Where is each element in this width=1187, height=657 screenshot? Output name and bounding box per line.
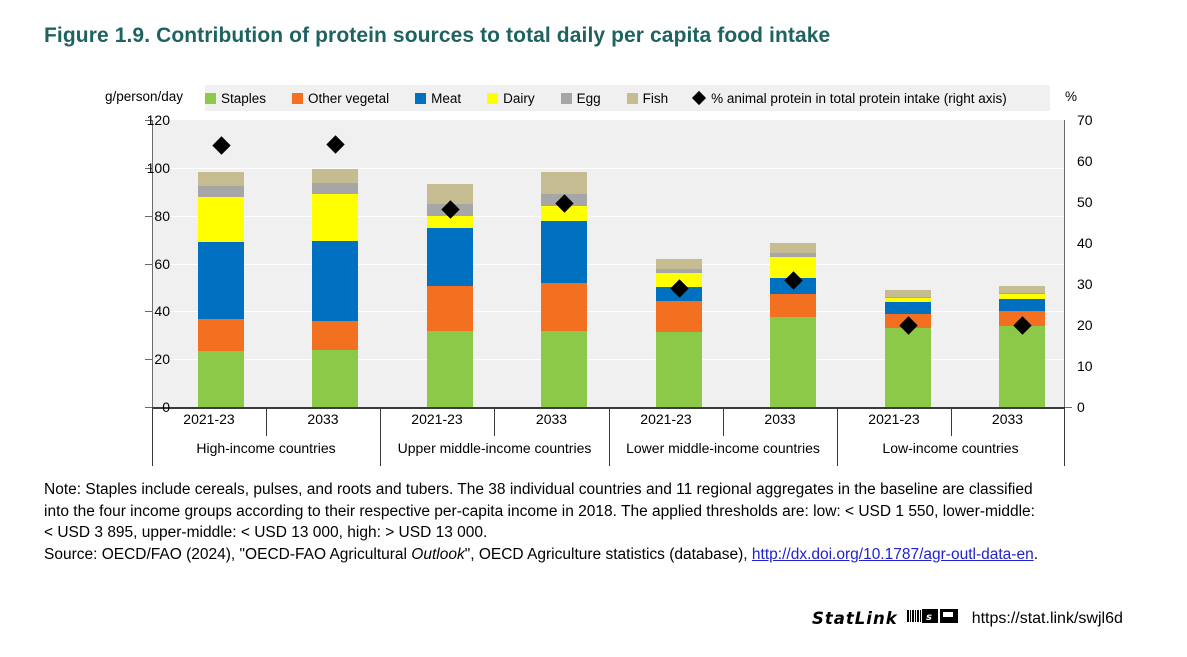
- category-label-low-income-2021-23: 2021-23: [837, 411, 951, 427]
- statlink-url[interactable]: https://stat.link/swjl6d: [972, 610, 1123, 628]
- legend-item-fish[interactable]: Fish: [627, 91, 669, 106]
- legend-item-animal-protein-share[interactable]: % animal protein in total protein intake…: [694, 91, 1007, 106]
- bar-segment-other-vegetal: [656, 301, 702, 332]
- group-label-lower-middle-income: Lower middle-income countries: [609, 440, 837, 456]
- category-label-upper-middle-income-2021-23: 2021-23: [380, 411, 494, 427]
- bar-segment-staples: [999, 326, 1045, 407]
- right-axis-line: [1064, 120, 1065, 408]
- right-axis-tick-label: 0: [1077, 400, 1117, 414]
- figure-container: Figure 1.9. Contribution of protein sour…: [0, 0, 1187, 657]
- marker-high-income-2033: [326, 136, 344, 154]
- left-axis-tick-label: 20: [124, 352, 170, 366]
- legend-label-animal-protein-share: % animal protein in total protein intake…: [711, 91, 1007, 106]
- plot-area: [152, 120, 1064, 407]
- category-label-high-income-2033: 2033: [266, 411, 380, 427]
- left-axis-tick-label: 120: [124, 113, 170, 127]
- category-label-low-income-2033: 2033: [951, 411, 1064, 427]
- category-axis: 2021-23 2033 2021-23 2033 2021-23 2033 2…: [152, 408, 1065, 467]
- bar-segment-fish: [541, 172, 587, 194]
- bar-segment-fish: [770, 243, 816, 253]
- right-axis-tick-label: 10: [1077, 359, 1117, 373]
- bar-lower-middle-income-2033[interactable]: [770, 243, 816, 407]
- group-label-low-income: Low-income countries: [837, 440, 1064, 456]
- svg-text:s: s: [926, 612, 932, 623]
- bar-segment-other-vegetal: [427, 286, 473, 331]
- left-axis-tick-label: 80: [124, 209, 170, 223]
- note-line-3: < USD 3 895, upper-middle: < USD 13 000,…: [44, 522, 1164, 544]
- legend-item-other-vegetal[interactable]: Other vegetal: [292, 91, 389, 106]
- category-label-high-income-2021-23: 2021-23: [152, 411, 266, 427]
- bar-segment-meat: [427, 228, 473, 285]
- group-label-upper-middle-income: Upper middle-income countries: [380, 440, 609, 456]
- legend-label-other-vegetal: Other vegetal: [308, 91, 389, 106]
- bar-segment-dairy: [312, 194, 358, 241]
- bar-segment-meat: [885, 302, 931, 314]
- source-suffix: .: [1034, 546, 1038, 563]
- page-title: Figure 1.9. Contribution of protein sour…: [44, 24, 830, 48]
- meat-swatch-icon: [415, 93, 426, 104]
- bar-low-income-2033[interactable]: [999, 286, 1045, 407]
- right-axis-tick-label: 30: [1077, 277, 1117, 291]
- bar-segment-staples: [656, 332, 702, 407]
- source-line: Source: OECD/FAO (2024), "OECD-FAO Agric…: [44, 544, 1164, 566]
- tick-right-0: [1065, 407, 1072, 408]
- legend-item-meat[interactable]: Meat: [415, 91, 461, 106]
- legend-label-meat: Meat: [431, 91, 461, 106]
- bar-segment-staples: [198, 351, 244, 407]
- legend-label-egg: Egg: [577, 91, 601, 106]
- bar-segment-staples: [541, 331, 587, 408]
- right-axis-tick-label: 70: [1077, 113, 1117, 127]
- fish-swatch-icon: [627, 93, 638, 104]
- bar-segment-dairy: [198, 197, 244, 242]
- group-label-high-income: High-income countries: [152, 440, 380, 456]
- chart-area: g/person/day % Staples Other vegetal Mea…: [100, 85, 1085, 467]
- right-axis-tick-label: 50: [1077, 195, 1117, 209]
- left-axis-tick-label: 100: [124, 161, 170, 175]
- legend-item-dairy[interactable]: Dairy: [487, 91, 535, 106]
- bar-high-income-2033[interactable]: [312, 169, 358, 407]
- gridline-80: [152, 216, 1064, 217]
- note-line-1: Note: Staples include cereals, pulses, a…: [44, 479, 1164, 501]
- other-vegetal-swatch-icon: [292, 93, 303, 104]
- dairy-swatch-icon: [487, 93, 498, 104]
- gridline-60: [152, 264, 1064, 265]
- left-axis-tick-label: 60: [124, 257, 170, 271]
- bar-segment-fish: [656, 259, 702, 268]
- bar-segment-staples: [312, 350, 358, 407]
- bar-segment-egg: [312, 183, 358, 194]
- category-label-upper-middle-income-2033: 2033: [494, 411, 609, 427]
- legend-item-egg[interactable]: Egg: [561, 91, 601, 106]
- bar-segment-meat: [999, 299, 1045, 311]
- bar-low-income-2021-23[interactable]: [885, 290, 931, 407]
- right-axis-tick-label: 60: [1077, 154, 1117, 168]
- category-label-lower-middle-income-2021-23: 2021-23: [609, 411, 723, 427]
- bar-segment-other-vegetal: [770, 294, 816, 317]
- left-axis-tick-label: 40: [124, 304, 170, 318]
- bar-segment-other-vegetal: [198, 319, 244, 351]
- note-line-2: into the four income groups according to…: [44, 501, 1164, 523]
- bar-high-income-2021-23[interactable]: [198, 172, 244, 407]
- bar-segment-meat: [312, 241, 358, 321]
- legend-item-staples[interactable]: Staples: [205, 91, 266, 106]
- statlink-footer: StatLink s https://stat.link/swjl6d: [812, 606, 1123, 631]
- legend-label-staples: Staples: [221, 91, 266, 106]
- bar-segment-fish: [999, 286, 1045, 293]
- statlink-label: StatLink: [812, 609, 898, 628]
- right-axis-unit-label: %: [1065, 89, 1077, 104]
- category-label-lower-middle-income-2033: 2033: [723, 411, 837, 427]
- staples-swatch-icon: [205, 93, 216, 104]
- notes-block: Note: Staples include cereals, pulses, a…: [44, 479, 1164, 565]
- bar-segment-egg: [198, 186, 244, 197]
- gridline-100: [152, 168, 1064, 169]
- bar-segment-fish: [312, 169, 358, 182]
- marker-high-income-2021-23: [212, 136, 230, 154]
- bar-segment-meat: [198, 242, 244, 319]
- bar-segment-staples: [427, 331, 473, 407]
- bar-segment-staples: [770, 317, 816, 407]
- legend-label-dairy: Dairy: [503, 91, 535, 106]
- right-axis-tick-label: 20: [1077, 318, 1117, 332]
- left-axis-unit-label: g/person/day: [105, 89, 183, 104]
- chart-legend: Staples Other vegetal Meat Dairy Egg Fis…: [205, 85, 1050, 111]
- bar-segment-meat: [541, 221, 587, 283]
- source-italic-title: Outlook: [411, 546, 464, 563]
- statlink-barcode-icon: s: [907, 606, 963, 631]
- bar-segment-fish: [198, 172, 244, 186]
- bar-segment-staples: [885, 328, 931, 407]
- group-separator: [1064, 409, 1065, 466]
- right-axis-tick-label: 40: [1077, 236, 1117, 250]
- bar-segment-other-vegetal: [312, 321, 358, 350]
- diamond-marker-icon: [692, 91, 706, 105]
- legend-label-fish: Fish: [643, 91, 669, 106]
- egg-swatch-icon: [561, 93, 572, 104]
- source-prefix: Source: OECD/FAO (2024), "OECD-FAO Agric…: [44, 546, 411, 563]
- source-doi-link[interactable]: http://dx.doi.org/10.1787/agr-outl-data-…: [752, 546, 1034, 563]
- bar-segment-other-vegetal: [541, 283, 587, 330]
- source-middle: ", OECD Agriculture statistics (database…: [465, 546, 752, 563]
- bar-segment-fish: [885, 290, 931, 297]
